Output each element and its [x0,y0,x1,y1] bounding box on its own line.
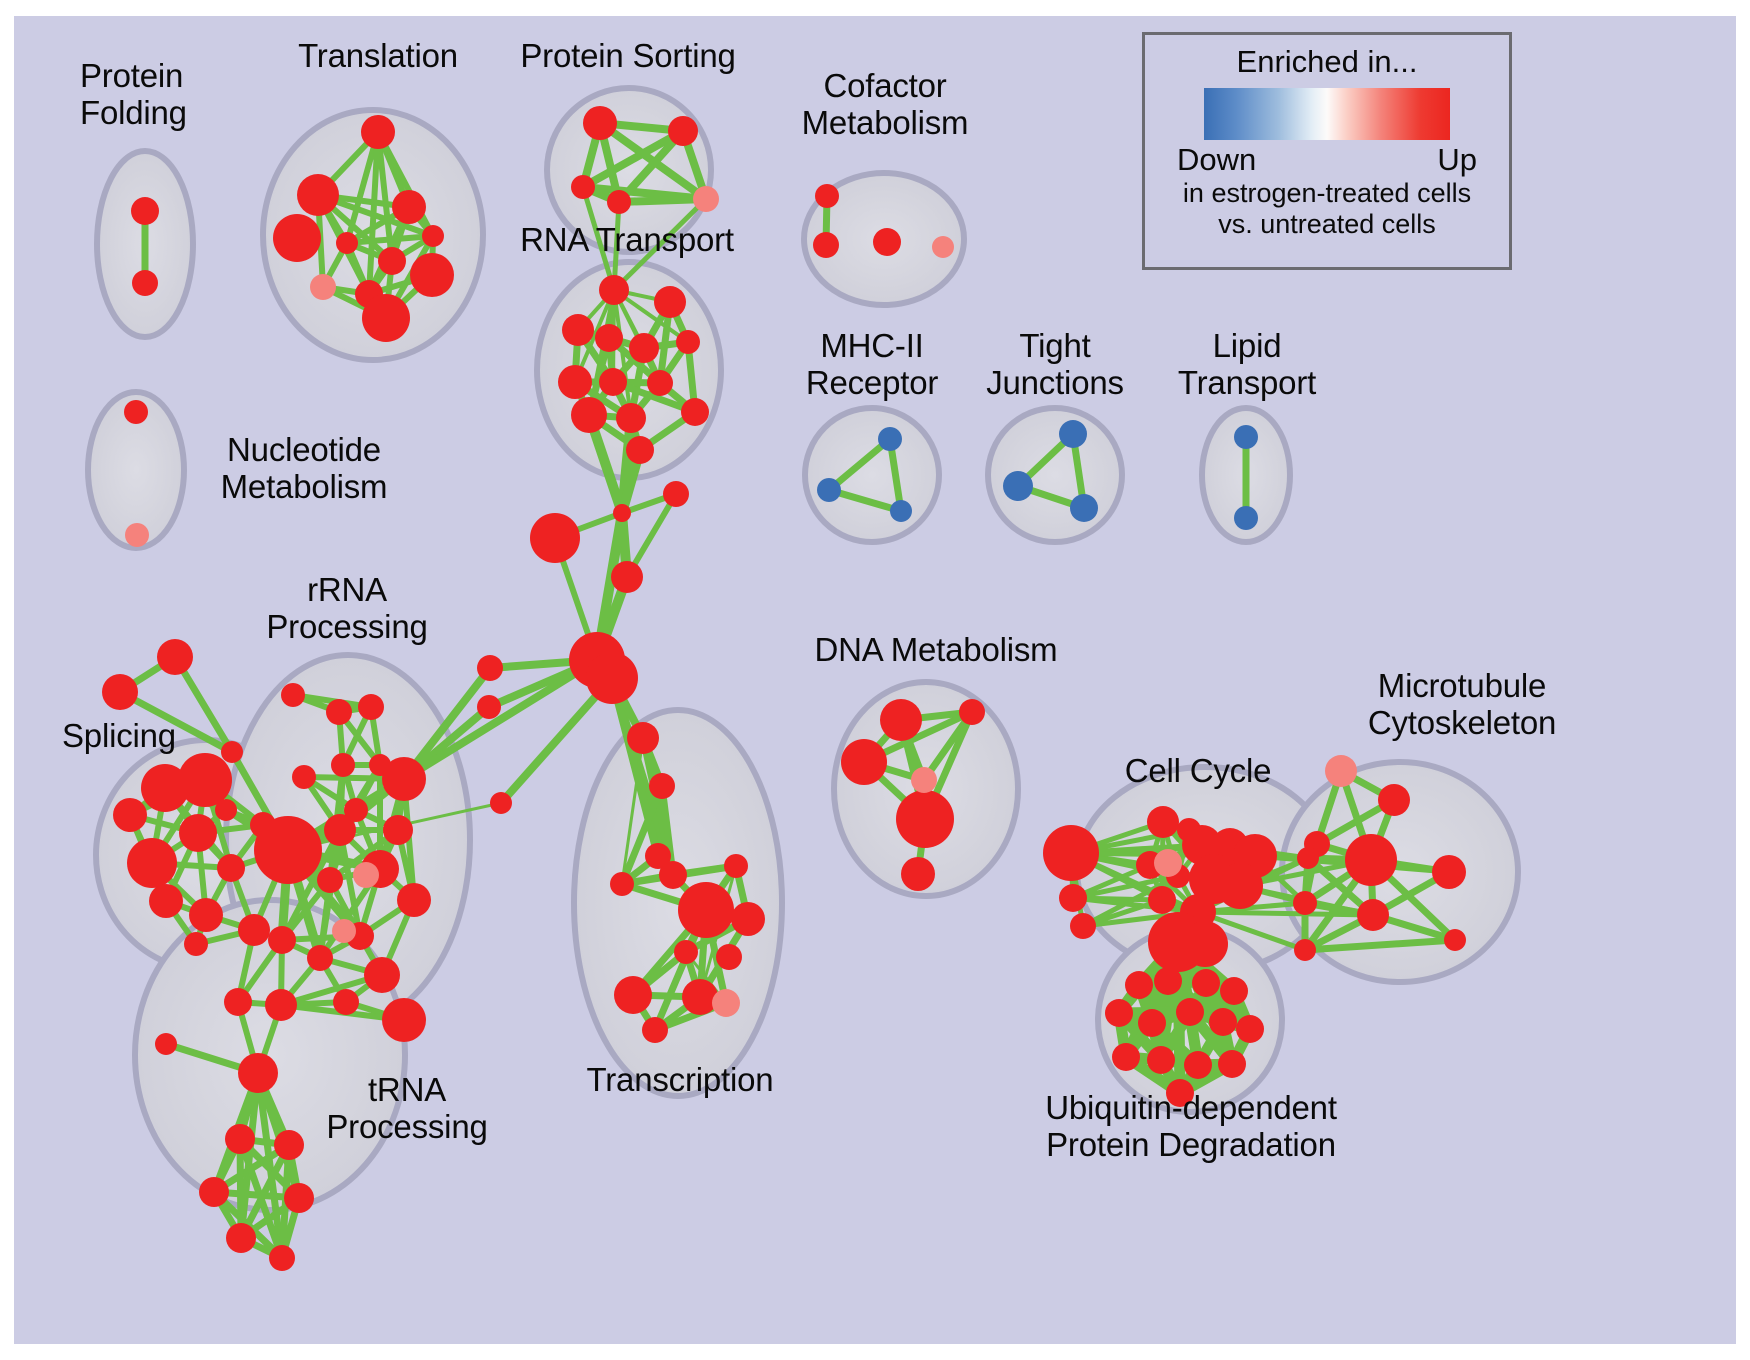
network-node [654,286,686,318]
network-node [422,225,444,247]
cluster-label-translation: Translation [283,38,473,75]
network-node [880,699,922,741]
network-node [254,816,322,884]
cluster-label-dna-metabolism: DNA Metabolism [812,632,1060,669]
network-node [599,368,627,396]
network-node-pale [1325,755,1357,787]
network-node [149,884,183,918]
network-node [558,365,592,399]
network-node [1154,967,1182,995]
network-node [1105,999,1133,1027]
cluster-label-microtubule-cytoskeleton: Microtubule Cytoskeleton [1312,668,1612,742]
network-node-down [1059,420,1087,448]
network-node-pale [353,862,379,888]
network-node [959,699,985,725]
network-node [477,655,503,681]
network-node [629,333,659,363]
network-node [1432,855,1466,889]
cluster-label-splicing: Splicing [62,718,212,755]
network-node [1378,784,1410,816]
network-node [273,214,321,262]
network-node-down [878,427,902,451]
network-node [682,979,718,1015]
network-node [215,799,237,821]
network-node [571,397,607,433]
network-node [676,330,700,354]
network-node [1182,921,1228,967]
network-node [611,561,643,593]
cluster-label-protein-sorting: Protein Sorting [503,38,753,75]
network-node [1220,977,1248,1005]
network-node [896,790,954,848]
network-node [1059,884,1087,912]
network-node [331,753,355,777]
network-node-pale [693,186,719,212]
network-node [344,798,368,822]
network-node-pale [332,919,356,943]
cluster-label-lipid-transport: Lipid Transport [1150,328,1344,402]
network-node [1345,834,1397,886]
cluster-label-cell-cycle: Cell Cycle [1108,753,1288,790]
network-node [1444,929,1466,951]
network-node [392,190,426,224]
network-node [595,324,623,352]
network-node [238,914,270,946]
network-node [724,854,748,878]
network-node [562,314,594,346]
network-node [382,757,426,801]
network-node [731,902,765,936]
network-node-down [1234,506,1258,530]
network-node [678,882,734,938]
network-node [326,699,352,725]
legend-high-label: Up [1437,142,1477,178]
network-node [221,741,243,763]
color-legend: Enriched in... Down Up in estrogen-treat… [1142,32,1512,270]
network-node-pale [911,767,937,793]
network-node [383,815,413,845]
network-node [663,481,689,507]
network-node-down [817,478,841,502]
network-node [1297,847,1319,869]
network-node [477,695,501,719]
network-node [1209,1008,1237,1036]
legend-subtitle-line2: vs. untreated cells [1218,209,1436,240]
cluster-label-nucleotide-metabolism: Nucleotide Metabolism [196,432,412,506]
cluster-label-rna-transport: RNA Transport [508,222,746,259]
enrichment-map-figure: Protein Folding Translation Protein Sort… [0,0,1750,1360]
network-node [317,867,343,893]
cluster-label-cofactor-metabolism: Cofactor Metabolism [774,68,996,142]
cluster-label-ubiquitin-degradation: Ubiquitin-dependent Protein Degradation [996,1090,1386,1164]
cluster-bubble-mhc2 [805,408,939,542]
cluster-label-trna-processing: tRNA Processing [312,1072,502,1146]
network-node [131,197,159,225]
network-node [1148,886,1176,914]
network-node [716,944,742,970]
network-node [614,976,652,1014]
network-node [274,1130,304,1160]
network-node [873,228,901,256]
network-node [226,1223,256,1253]
network-node [179,814,217,852]
network-node [157,639,193,675]
cluster-label-tight-junctions: Tight Junctions [960,328,1150,402]
network-node [184,932,208,956]
network-node [132,270,158,296]
network-node [1192,969,1220,997]
network-node [1147,1046,1175,1074]
legend-low-label: Down [1177,142,1256,178]
network-node [297,174,339,216]
cluster-label-mhc-ii-receptor: MHC-II Receptor [772,328,972,402]
network-node [336,232,358,254]
network-node [649,773,675,799]
cluster-label-transcription: Transcription [576,1062,784,1099]
network-node-down [890,500,912,522]
network-node [1176,998,1204,1026]
network-node [410,253,454,297]
network-node [333,989,359,1015]
network-node [225,1124,255,1154]
network-node [1184,1051,1212,1079]
cluster-label-rrna-processing: rRNA Processing [252,572,442,646]
legend-gradient-bar [1204,88,1450,140]
network-node [1357,899,1389,931]
network-node [361,115,395,149]
network-node [1294,939,1316,961]
network-node [1147,806,1179,838]
network-node [627,722,659,754]
network-node [292,765,316,789]
network-node [607,190,631,214]
network-node [362,294,410,342]
network-node [124,400,148,424]
network-node [1293,891,1317,915]
network-node [1070,913,1096,939]
network-node [238,1053,278,1093]
network-node [265,989,297,1021]
network-node-down [1003,471,1033,501]
network-node [199,1177,229,1207]
network-node [307,945,333,971]
network-node [284,1183,314,1213]
network-node [674,940,698,964]
network-node [358,694,384,720]
network-node-pale [712,989,740,1017]
network-node-down [1234,425,1258,449]
network-node [1236,1015,1264,1043]
network-node [113,798,147,832]
network-node [1138,1009,1166,1037]
network-node [642,1017,668,1043]
network-node [586,652,638,704]
network-node [217,854,245,882]
network-node [583,106,617,140]
network-node [378,247,406,275]
network-node-down [1070,494,1098,522]
legend-endpoints: Down Up [1177,142,1477,178]
network-node [647,370,673,396]
network-node [681,398,709,426]
network-node [626,436,654,464]
network-node [155,1033,177,1055]
network-node [813,232,839,258]
network-node [571,175,595,199]
network-node [610,872,634,896]
network-node [1043,825,1099,881]
network-node-pale [125,523,149,547]
network-node [1112,1043,1140,1071]
network-node-pale [310,274,336,300]
network-node [815,184,839,208]
cluster-label-protein-folding: Protein Folding [80,58,210,132]
network-node [659,861,687,889]
network-node [127,838,177,888]
network-node [1217,863,1263,909]
network-node [490,792,512,814]
network-node [613,504,631,522]
network-node [1218,1050,1246,1078]
network-node [268,926,296,954]
legend-title: Enriched in... [1237,44,1418,80]
network-node [599,275,629,305]
network-node [668,116,698,146]
network-node [1125,971,1153,999]
network-node [364,957,400,993]
network-node [530,513,580,563]
network-node [189,898,223,932]
network-node [382,998,426,1042]
network-node [269,1245,295,1271]
network-node-pale [1154,849,1182,877]
network-node [616,403,646,433]
network-node [841,739,887,785]
network-node [178,753,232,807]
legend-subtitle-line1: in estrogen-treated cells [1183,178,1471,209]
network-node [224,988,252,1016]
network-node [901,857,935,891]
network-node [102,674,138,710]
network-node [281,683,305,707]
network-node [397,883,431,917]
network-node-pale [932,236,954,258]
